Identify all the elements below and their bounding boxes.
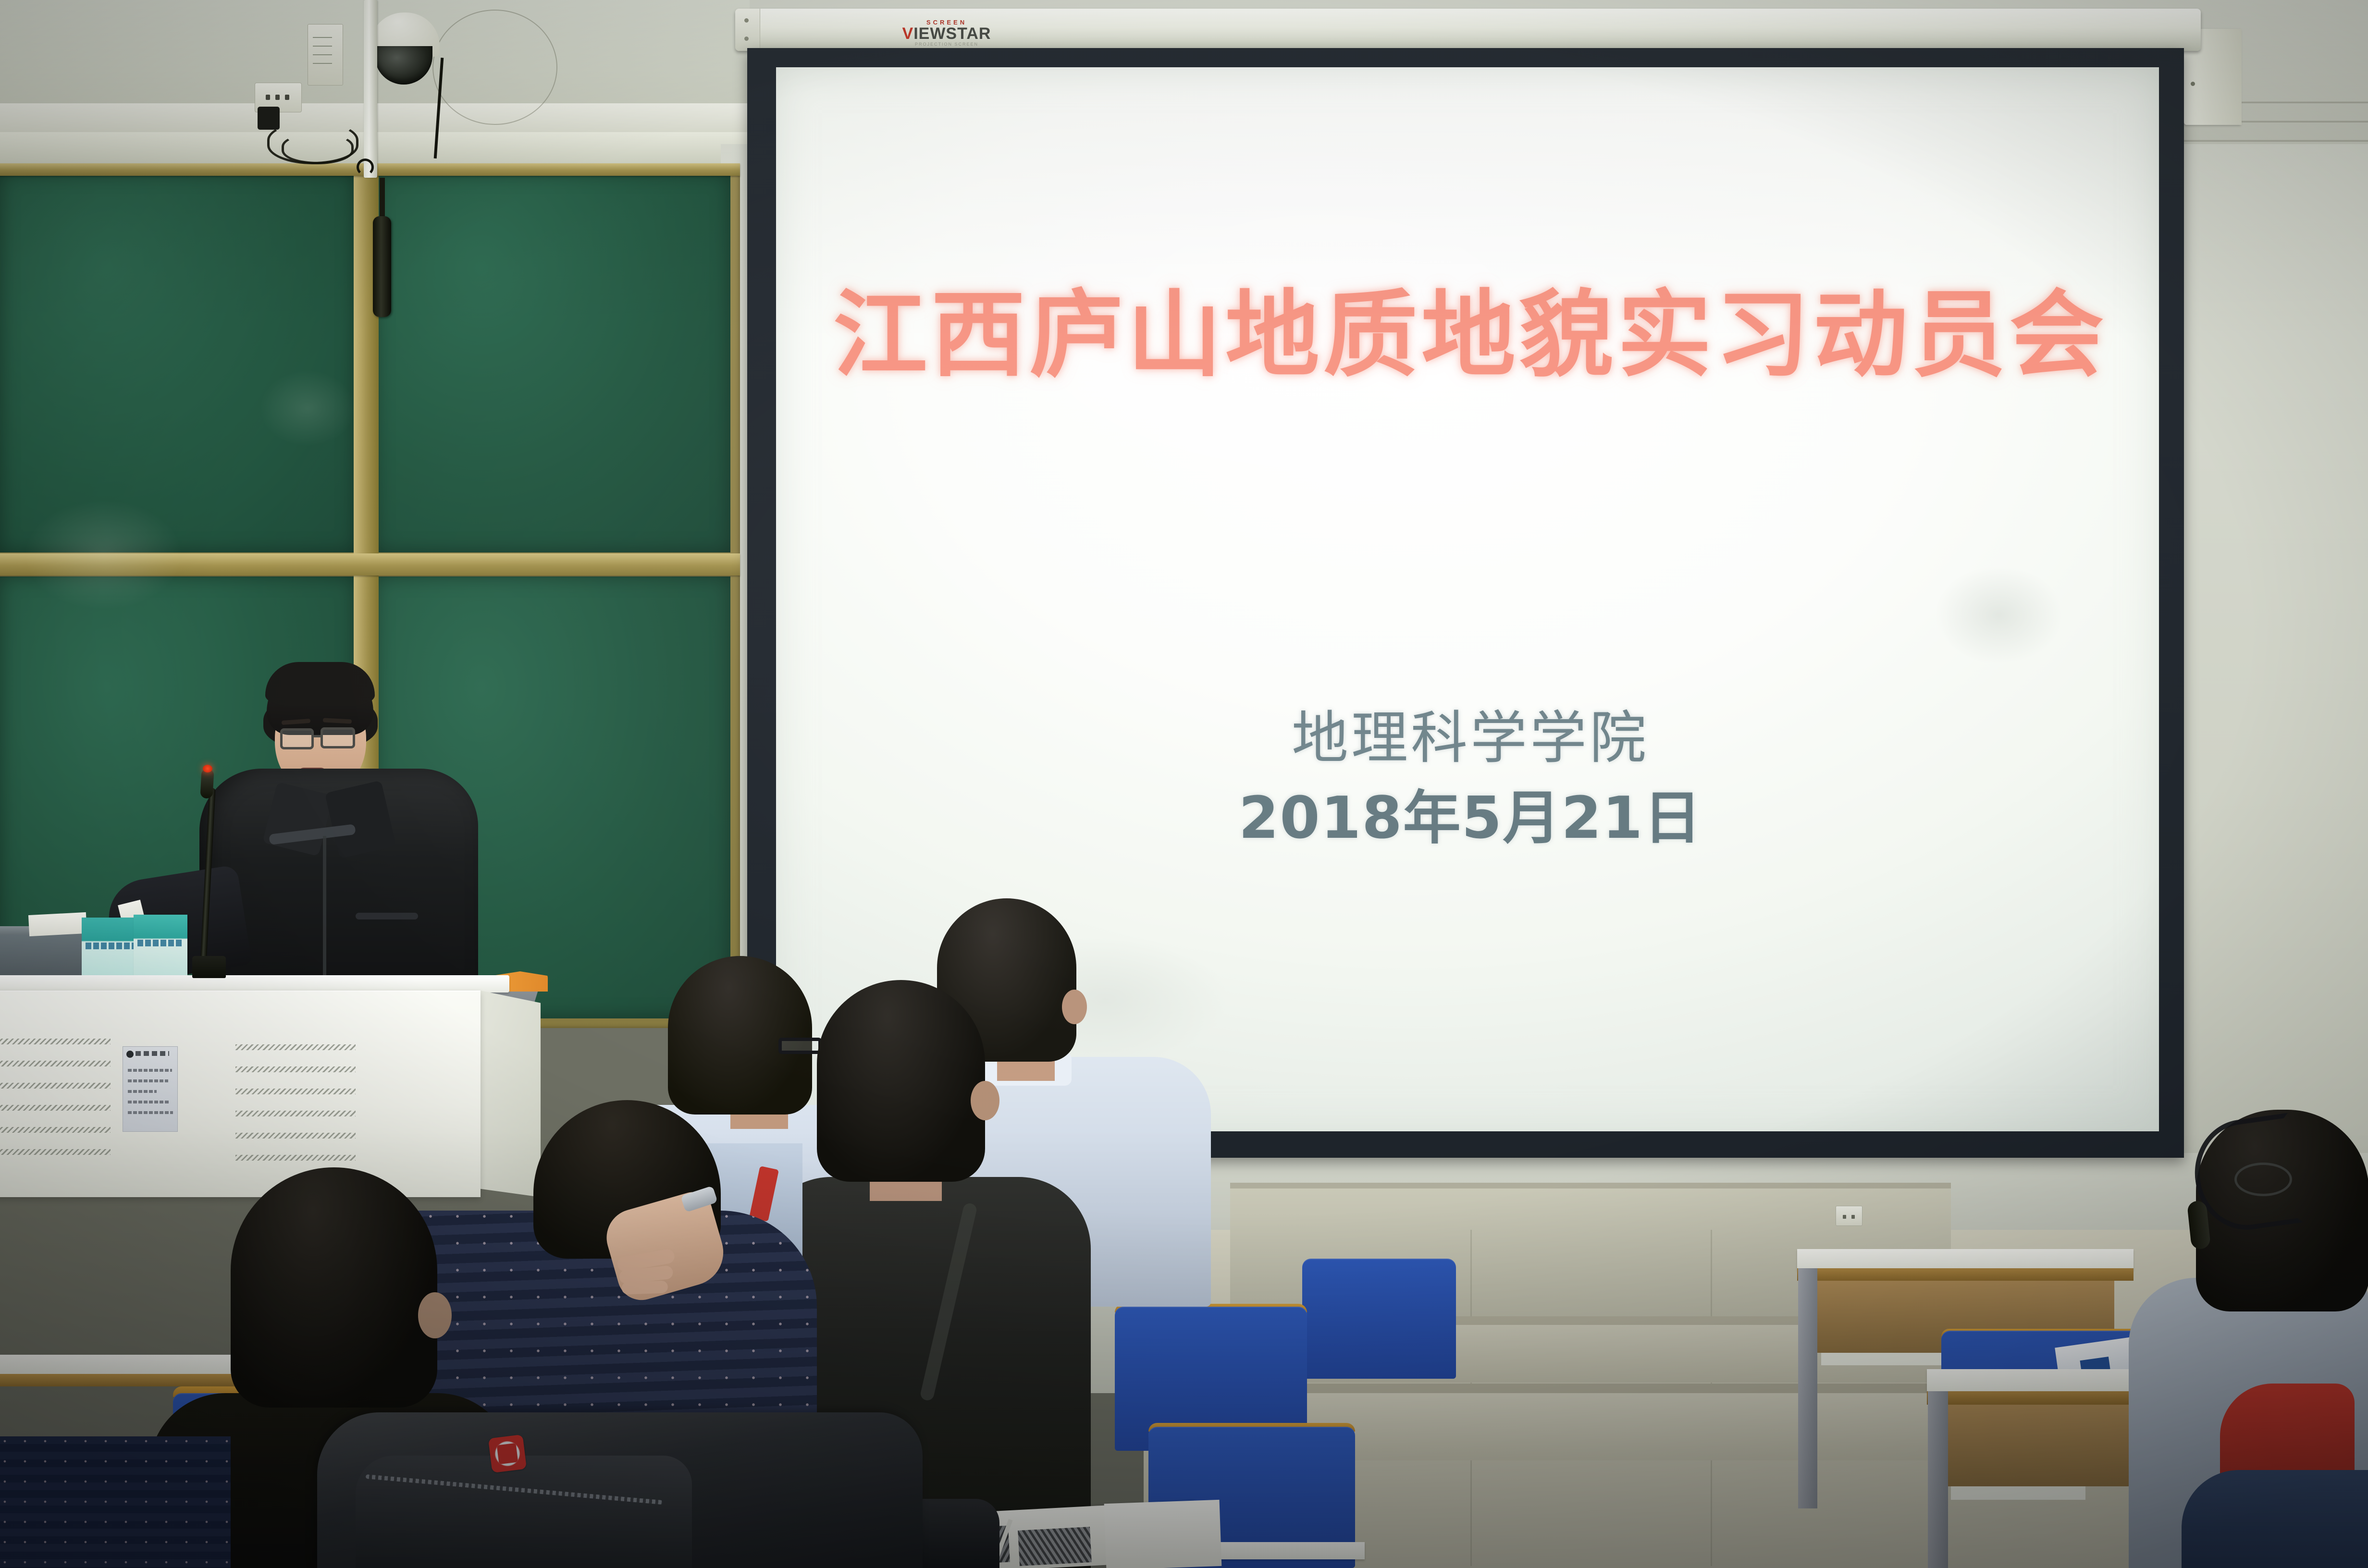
tissue-box-left	[82, 918, 139, 975]
screen-brand-logo: SCREEN VIEWSTAR PROJECTION SCREEN	[865, 19, 1028, 44]
desk-edge	[1797, 1268, 2134, 1281]
presenter-fringe	[265, 662, 375, 706]
desk-top	[1206, 1542, 1365, 1559]
hanging-mic-stem	[380, 178, 385, 221]
electrical-junction-box	[308, 24, 343, 86]
audience-member-head	[817, 980, 985, 1182]
paper-sheet	[28, 912, 87, 936]
support-pole	[364, 0, 377, 178]
audience-ear	[1062, 990, 1087, 1024]
newspaper-photo	[1018, 1527, 1092, 1566]
wall-outlet-icon	[1836, 1206, 1862, 1226]
presenter-glasses-left-lens	[280, 728, 314, 749]
audience-member-head	[668, 956, 812, 1115]
soffit-band-lower	[0, 132, 778, 166]
hanging-microphone-icon	[373, 216, 391, 317]
auditorium-seat[interactable]	[1302, 1259, 1456, 1379]
step-edge-2	[1192, 1384, 1970, 1393]
lectern-ledge	[0, 975, 509, 992]
backpack-logo-inner	[497, 1443, 518, 1465]
mic-hook-icon	[357, 159, 374, 176]
audience-ear	[418, 1292, 452, 1338]
audience-glasses-icon	[778, 1038, 822, 1054]
newspaper-page-right	[1104, 1500, 1222, 1568]
lecture-hall-photo: SCREEN VIEWSTAR PROJECTION SCREEN 江西庐山地质…	[0, 0, 2368, 1568]
screen-brand-name: VIEWSTAR	[865, 25, 1028, 42]
cable-coil-inner	[282, 133, 354, 164]
microphone-icon	[200, 768, 214, 798]
chalk-dust-smudge	[24, 500, 183, 610]
screen-housing-end-cap	[735, 9, 760, 51]
chalk-dust-smudge-2	[259, 370, 356, 447]
presenter-glasses-right-lens	[321, 727, 355, 748]
slide-organization: 地理科学学院	[807, 697, 2134, 779]
desk-leg	[1928, 1391, 1948, 1568]
backpack-front-panel	[356, 1456, 692, 1568]
desk-shelf	[1821, 1353, 1946, 1365]
plate-logo-icon	[126, 1051, 134, 1058]
screen-brand-tagline: PROJECTION SCREEN	[865, 42, 1028, 47]
ceiling-mark-halo	[432, 10, 557, 125]
lectern-info-plate	[123, 1046, 178, 1132]
chalkboard-panel-top-left	[0, 173, 356, 552]
desk-top	[1797, 1249, 2134, 1270]
gooseneck-mic-base	[192, 956, 226, 978]
soffit-band-upper	[0, 103, 778, 132]
riser-edge	[1230, 1183, 1951, 1188]
tissue-box-right	[134, 915, 187, 976]
audience-member-sleeve	[0, 1436, 231, 1568]
presenter-glasses-bridge	[312, 735, 323, 737]
lectern-front-panel	[0, 991, 481, 1197]
screen-smudge	[1936, 567, 2061, 663]
desk-shelf	[1951, 1486, 2085, 1500]
lectern-side-panel	[481, 991, 541, 1197]
power-plug	[258, 107, 280, 130]
audience-member-head	[231, 1167, 437, 1408]
desk-leg	[1798, 1268, 1817, 1508]
presenter-jacket-pocket	[356, 913, 418, 919]
mic-led-indicator	[203, 765, 212, 772]
audience-member-jacket	[2182, 1470, 2368, 1568]
audience-ear	[971, 1081, 999, 1120]
chalkboard-panel-top-right	[375, 173, 730, 552]
slide-date: 2018年5月21日	[807, 778, 2134, 859]
slide-title: 江西庐山地质地貌实习动员会	[807, 288, 2134, 382]
presenter-jacket-zipper	[323, 836, 326, 994]
